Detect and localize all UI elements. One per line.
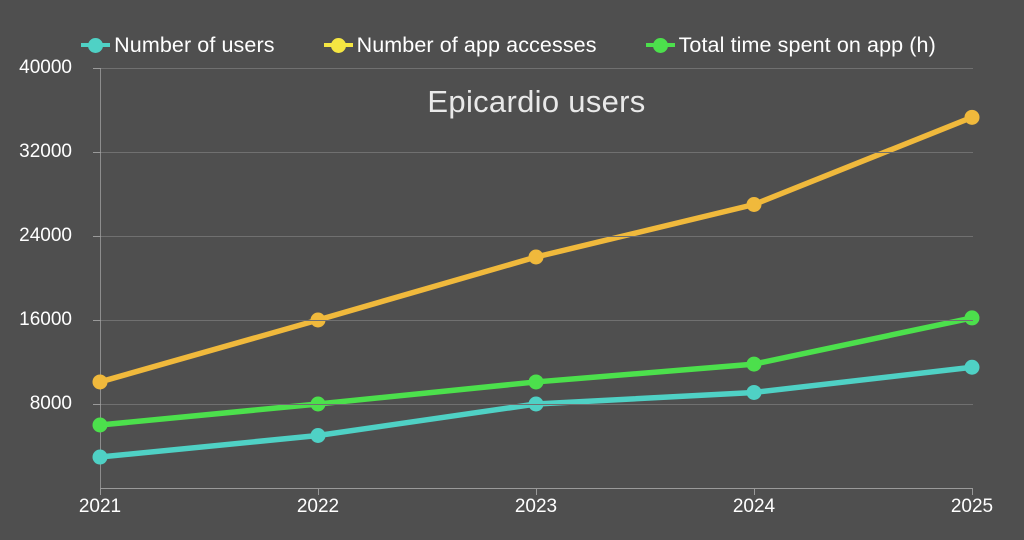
data-point[interactable]	[93, 374, 108, 389]
y-axis-tick	[93, 320, 101, 321]
x-axis-tick-label: 2024	[733, 496, 775, 518]
series-3	[93, 310, 980, 432]
series-layer	[100, 68, 973, 488]
y-axis-tick	[93, 152, 101, 153]
gridline	[100, 404, 973, 405]
data-point[interactable]	[529, 250, 544, 265]
gridline	[100, 68, 973, 69]
chart-title: Epicardio users	[100, 84, 973, 120]
data-point[interactable]	[311, 428, 326, 443]
plot-area	[100, 68, 973, 488]
x-axis-tick	[100, 488, 101, 495]
plot-wrapper	[0, 0, 1024, 540]
gridline	[100, 320, 973, 321]
x-axis-tick	[318, 488, 319, 495]
data-point[interactable]	[529, 374, 544, 389]
data-point[interactable]	[93, 418, 108, 433]
x-axis-tick-label: 2021	[79, 496, 121, 518]
chart-container: Number of users Number of app accesses T…	[0, 0, 1024, 540]
x-axis-labels: 20212022202320242025	[100, 496, 973, 526]
y-axis-tick	[93, 68, 101, 69]
data-point[interactable]	[747, 357, 762, 372]
y-axis-tick	[93, 404, 101, 405]
y-axis-tick	[93, 236, 101, 237]
data-point[interactable]	[747, 385, 762, 400]
data-point[interactable]	[93, 450, 108, 465]
x-axis-tick	[972, 488, 973, 495]
data-point[interactable]	[747, 197, 762, 212]
gridline	[100, 236, 973, 237]
data-point[interactable]	[965, 310, 980, 325]
x-axis-tick-label: 2022	[297, 496, 339, 518]
data-point[interactable]	[965, 360, 980, 375]
x-axis-tick	[754, 488, 755, 495]
gridline	[100, 152, 973, 153]
x-axis-tick-label: 2023	[515, 496, 557, 518]
x-axis-tick	[536, 488, 537, 495]
x-axis-tick-label: 2025	[951, 496, 993, 518]
